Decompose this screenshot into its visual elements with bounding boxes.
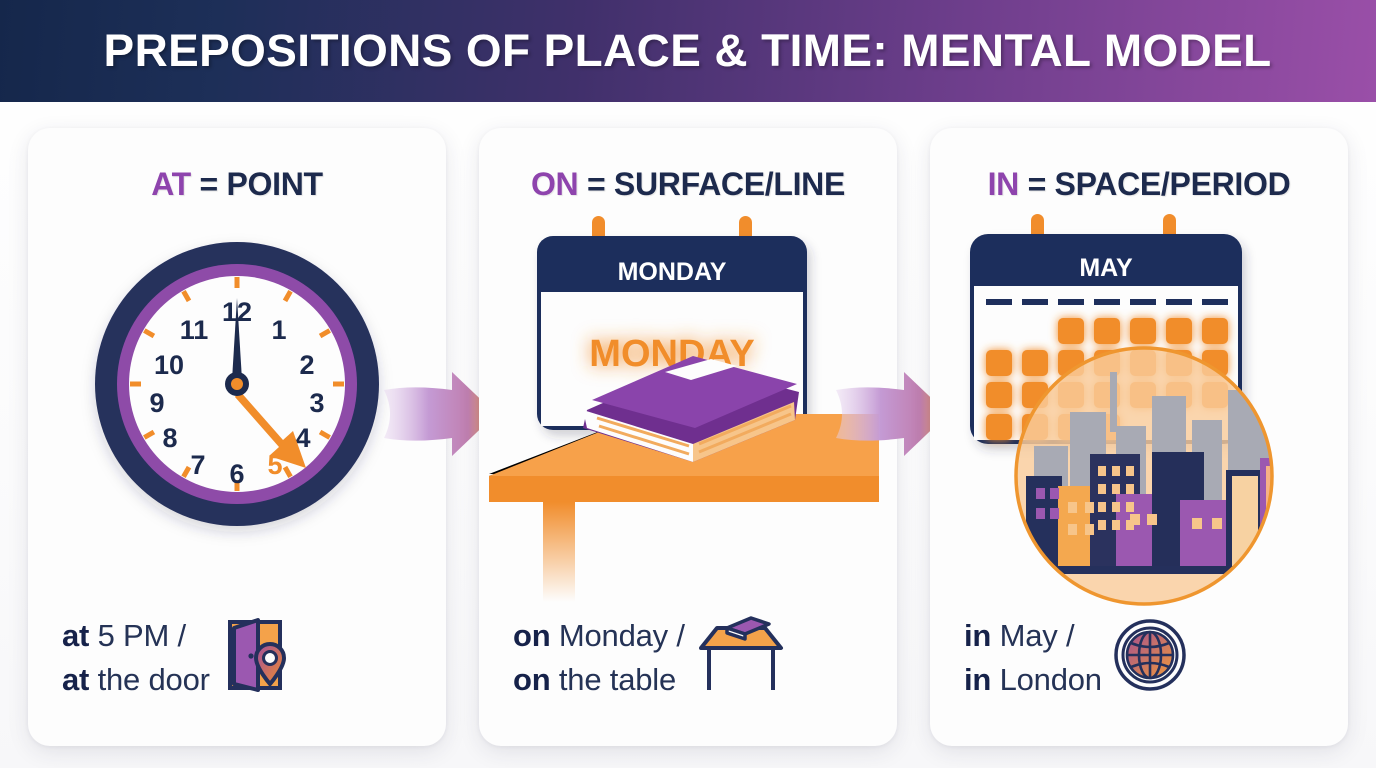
card-at-heading: AT = POINT <box>28 166 446 203</box>
svg-text:8: 8 <box>162 423 177 453</box>
card-at-caption-bold-1: at <box>62 618 89 653</box>
card-on-caption-bold-1: on <box>513 618 550 653</box>
card-in-caption-text: in May / in London <box>964 614 1102 702</box>
card-in-caption-bold-2: in <box>964 662 991 697</box>
calendar-monday-header: MONDAY <box>618 258 727 286</box>
card-on-caption-bold-2: on <box>513 662 550 697</box>
card-on-caption-rest-1: Monday / <box>550 618 684 653</box>
card-in-caption-bold-1: in <box>964 618 991 653</box>
card-in-keyword: IN <box>988 166 1019 202</box>
card-at-caption-rest-2: the door <box>89 662 210 697</box>
city-circle <box>1010 348 1348 604</box>
card-in[interactable]: IN = SPACE/PERIOD <box>930 128 1348 746</box>
card-on-caption: on Monday / on the table <box>513 614 787 702</box>
svg-text:10: 10 <box>154 350 184 380</box>
svg-text:7: 7 <box>190 450 205 480</box>
svg-text:9: 9 <box>149 388 164 418</box>
card-at-caption-text: at 5 PM / at the door <box>62 614 210 702</box>
calendar-may-city-illustration: MAY <box>930 214 1348 644</box>
card-in-caption: in May / in London <box>964 614 1188 702</box>
svg-text:2: 2 <box>299 350 314 380</box>
card-at-caption-rest-1: 5 PM / <box>89 618 186 653</box>
page-title: PREPOSITIONS OF PLACE & TIME: MENTAL MOD… <box>104 25 1272 77</box>
card-at-keyword: AT <box>151 166 191 202</box>
card-at-heading-rest: = POINT <box>191 166 323 202</box>
card-in-heading: IN = SPACE/PERIOD <box>930 166 1348 203</box>
card-in-caption-rest-1: May / <box>991 618 1074 653</box>
table-with-book-icon <box>695 616 787 699</box>
card-in-caption-rest-2: London <box>991 662 1102 697</box>
door-with-location-pin-icon <box>220 616 292 699</box>
infographic-page: PREPOSITIONS OF PLACE & TIME: MENTAL MOD… <box>0 0 1376 768</box>
globe-icon <box>1112 617 1188 698</box>
svg-text:11: 11 <box>180 315 209 345</box>
header-banner: PREPOSITIONS OF PLACE & TIME: MENTAL MOD… <box>0 0 1376 102</box>
card-at-caption-bold-2: at <box>62 662 89 697</box>
card-at-caption: at 5 PM / at the door <box>62 614 292 702</box>
card-on-caption-rest-2: the table <box>550 662 676 697</box>
card-on-caption-text: on Monday / on the table <box>513 614 685 702</box>
card-on-keyword: ON <box>531 166 578 202</box>
calendar-may-header: MAY <box>1079 254 1133 282</box>
svg-text:6: 6 <box>229 459 244 489</box>
card-in-heading-rest: = SPACE/PERIOD <box>1019 166 1290 202</box>
card-on-heading-rest: = SURFACE/LINE <box>578 166 845 202</box>
svg-text:3: 3 <box>309 388 324 418</box>
card-on-heading: ON = SURFACE/LINE <box>479 166 897 203</box>
svg-text:1: 1 <box>271 315 286 345</box>
